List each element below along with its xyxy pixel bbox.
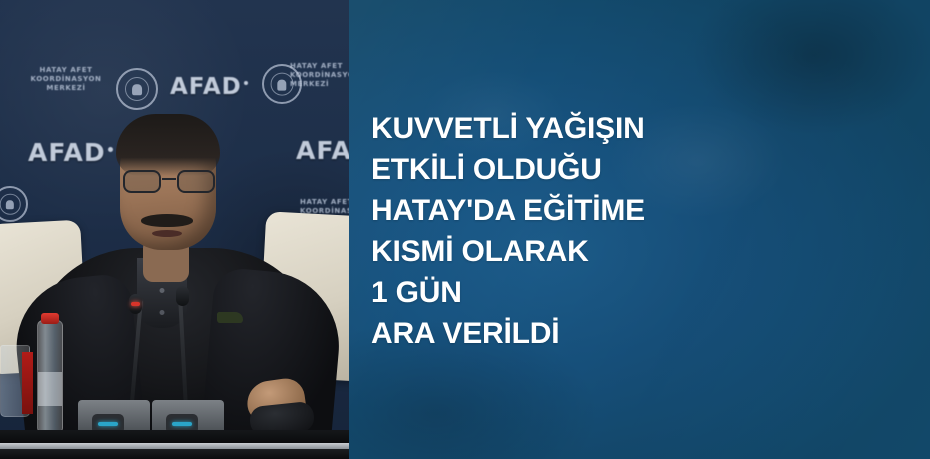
news-photo: HATAY AFET KOORDİNASYON MERKEZİ HATAY AF… xyxy=(0,0,349,459)
headline-line-4: KISMİ OLARAK xyxy=(371,231,916,272)
microphone-led-icon xyxy=(131,302,140,306)
bottle-label xyxy=(38,372,62,406)
backdrop-org-text: HATAY AFET KOORDİNASYON MERKEZİ xyxy=(24,66,108,93)
speaker-mustache xyxy=(141,214,193,227)
press-label xyxy=(22,352,33,414)
crocodile-logo-icon xyxy=(217,312,243,323)
bottle-cap xyxy=(41,313,59,324)
afad-wordmark: AFAD xyxy=(170,74,248,100)
headline-line-6: ARA VERİLDİ xyxy=(371,313,916,354)
afad-wordmark: AFAD xyxy=(296,136,349,165)
microphone-head xyxy=(176,286,189,306)
screenshot-canvas: HATAY AFET KOORDİNASYON MERKEZİ HATAY AF… xyxy=(0,0,930,459)
headline-line-3: HATAY'DA EĞİTİME xyxy=(371,190,916,231)
headline-line-1: KUVVETLİ YAĞIŞIN xyxy=(371,108,916,149)
turkey-seal-icon xyxy=(116,68,158,110)
headline-line-5: 1 GÜN xyxy=(371,272,916,313)
desk-edge xyxy=(0,443,349,449)
speaker-mouth xyxy=(152,230,182,237)
eyeglasses-icon xyxy=(122,170,216,194)
headline-line-2: ETKİLİ OLDUĞU xyxy=(371,149,916,190)
turkey-seal-icon xyxy=(262,64,302,104)
speaker-hair xyxy=(116,114,220,176)
headline-block: KUVVETLİ YAĞIŞIN ETKİLİ OLDUĞU HATAY'DA … xyxy=(371,108,916,354)
headline-panel: KUVVETLİ YAĞIŞIN ETKİLİ OLDUĞU HATAY'DA … xyxy=(349,0,930,459)
afad-wordmark: AFAD xyxy=(28,138,113,167)
